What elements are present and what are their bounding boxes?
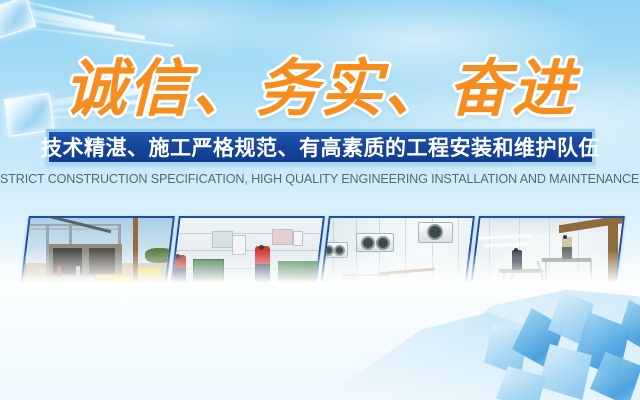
ice-cube-icon	[0, 0, 34, 37]
subtitle-en-text: STRICT CONSTRUCTION SPECIFICATION, HIGH …	[0, 172, 640, 186]
ice-crystal-cluster	[478, 282, 640, 400]
subtitle-banner: 技术精湛、施工严格规范、有高素质的工程安装和维护队伍	[46, 129, 595, 165]
page-title: 诚信、务实、奋进	[0, 46, 640, 132]
promo-banner: 诚信、务实、奋进 技术精湛、施工严格规范、有高素质的工程安装和维护队伍 STRI…	[0, 0, 640, 400]
subtitle-cn-text: 技术精湛、施工严格规范、有高素质的工程安装和维护队伍	[41, 132, 600, 162]
